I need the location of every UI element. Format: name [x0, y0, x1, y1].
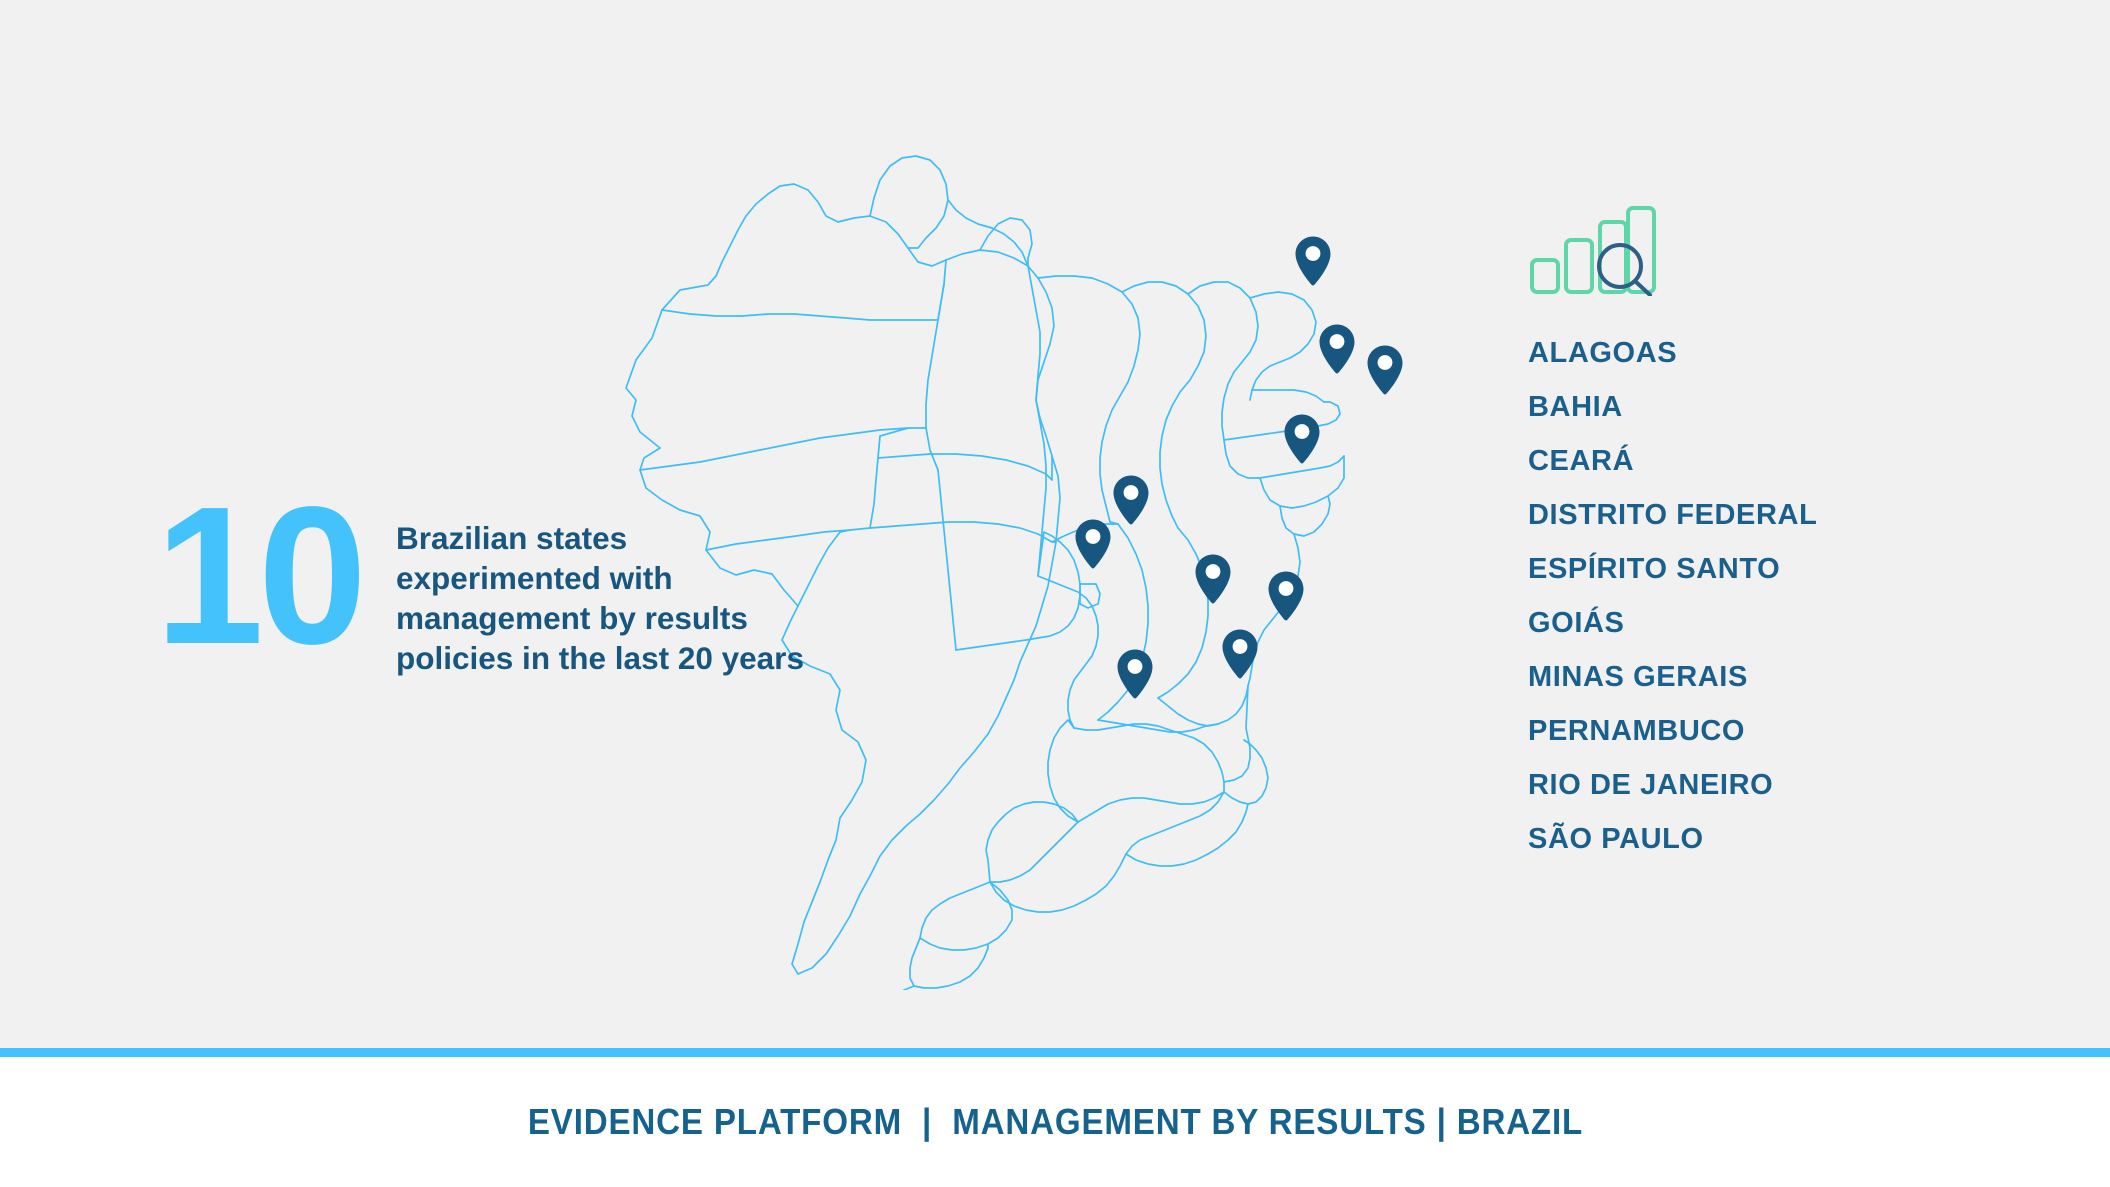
map-pin[interactable] [1111, 474, 1151, 526]
stat-number: 10 [155, 496, 361, 657]
infographic-canvas: 10 Brazilian states experimented with ma… [0, 0, 2110, 1187]
state-list-item: ALAGOAS [1528, 326, 1948, 380]
map-pin[interactable] [1266, 570, 1306, 622]
state-list: ALAGOAS BAHIA CEARÁ DISTRITO FEDERAL ESP… [1528, 326, 1948, 866]
logo-bar-2 [1566, 240, 1592, 292]
logo-bar-1 [1532, 260, 1558, 292]
map-pin[interactable] [1365, 344, 1405, 396]
state-list-item: MINAS GERAIS [1528, 650, 1948, 704]
section-divider [0, 1048, 2110, 1057]
state-list-item: CEARÁ [1528, 434, 1948, 488]
state-list-item: PERNAMBUCO [1528, 704, 1948, 758]
map-pin[interactable] [1282, 413, 1322, 465]
stat-block: 10 Brazilian states experimented with ma… [155, 496, 804, 678]
map-pin[interactable] [1073, 518, 1113, 570]
state-list-item: BAHIA [1528, 380, 1948, 434]
map-pin[interactable] [1293, 235, 1333, 287]
map-pin[interactable] [1115, 648, 1155, 700]
evidence-platform-logo [1528, 204, 1656, 296]
state-list-item: RIO DE JANEIRO [1528, 758, 1948, 812]
map-pin[interactable] [1317, 323, 1357, 375]
state-list-item: SÃO PAULO [1528, 812, 1948, 866]
stat-caption: Brazilian states experimented with manag… [396, 518, 804, 678]
footer-bar: EVIDENCE PLATFORM | MANAGEMENT BY RESULT… [0, 1057, 2110, 1187]
state-list-item: ESPÍRITO SANTO [1528, 542, 1948, 596]
map-pin[interactable] [1220, 628, 1260, 680]
map-pin[interactable] [1193, 553, 1233, 605]
footer-caption: EVIDENCE PLATFORM | MANAGEMENT BY RESULT… [527, 1101, 1582, 1143]
state-list-item: GOIÁS [1528, 596, 1948, 650]
state-list-item: DISTRITO FEDERAL [1528, 488, 1948, 542]
